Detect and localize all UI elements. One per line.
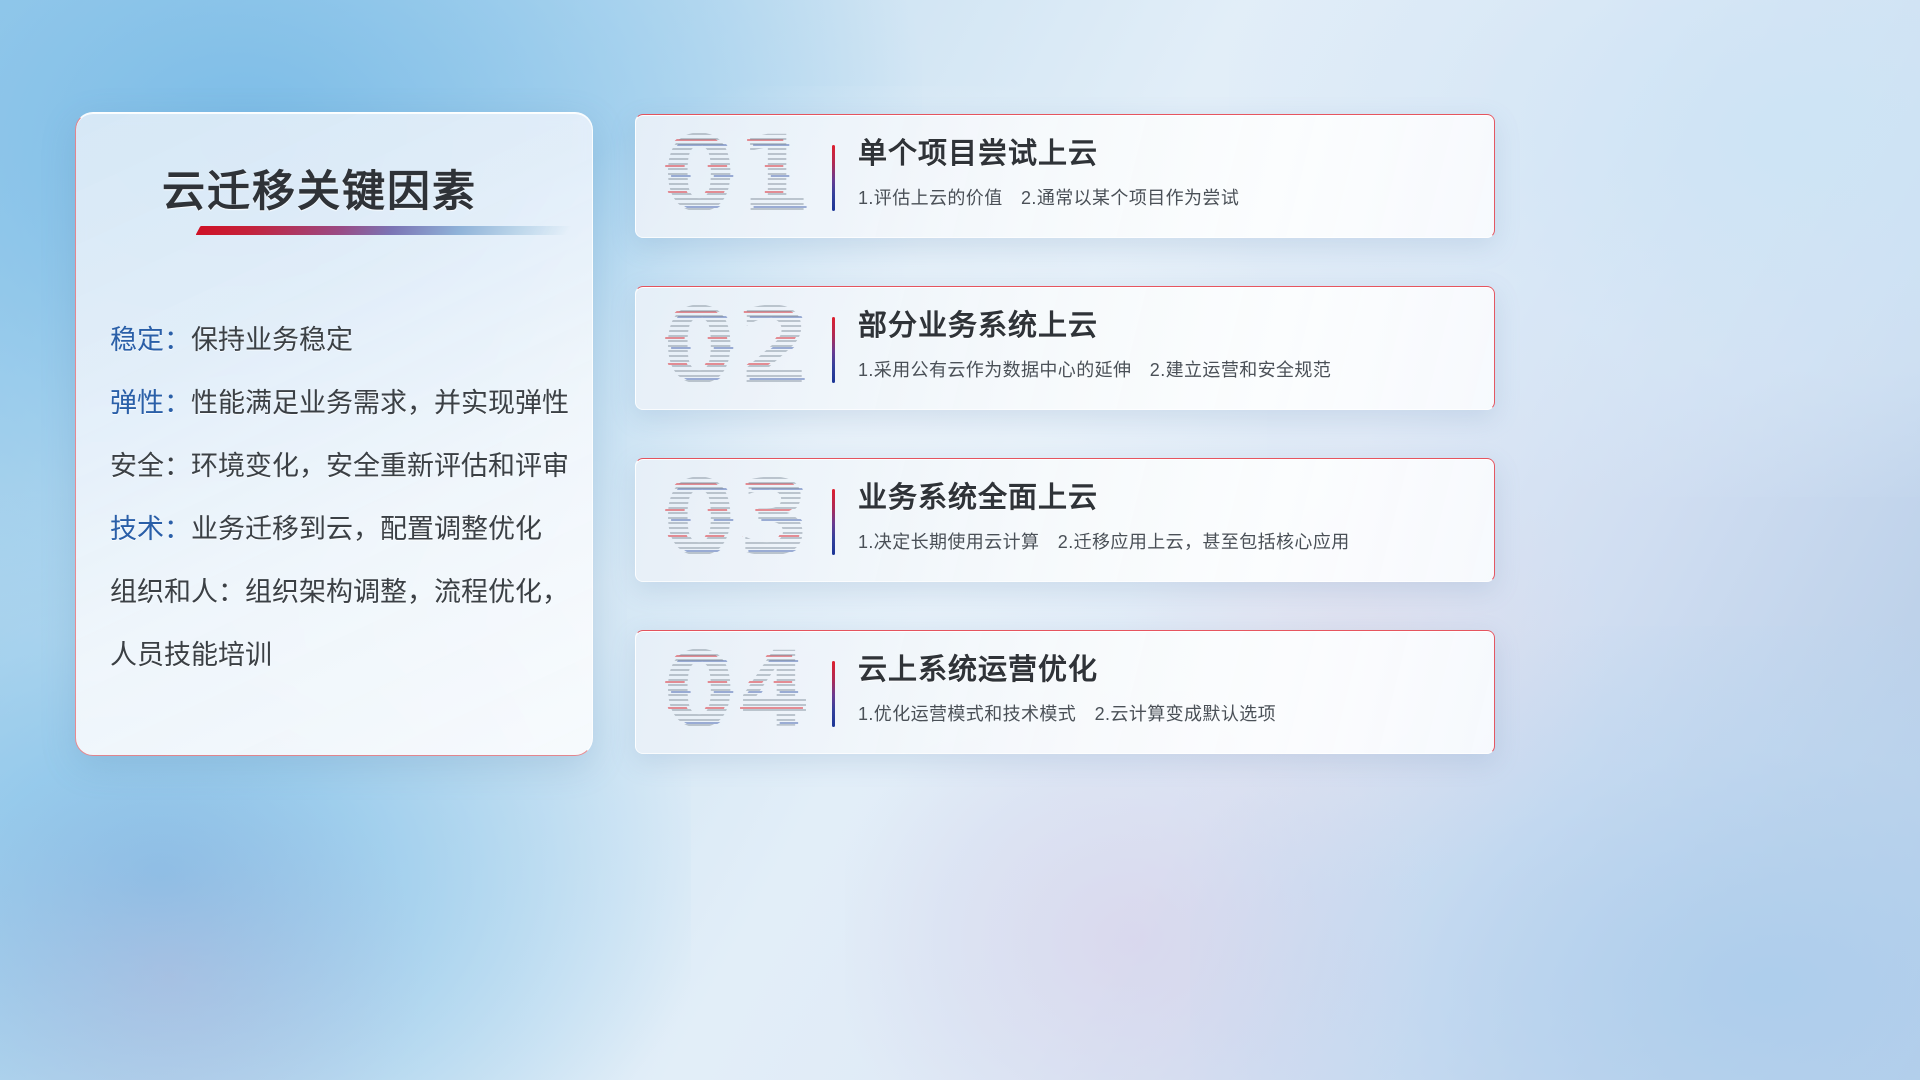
stage-number-01: 01 01 01 — [663, 119, 835, 235]
stage-card-02[interactable]: 02 02 02 部分业务系统上云 1.采用公有云作为数据中心的延伸 2.建立运… — [635, 286, 1495, 410]
page-title: 云迁移关键因素 — [162, 157, 477, 219]
list-item-label: 技术： — [110, 514, 191, 544]
list-item-label: 安全： — [110, 451, 191, 481]
list-item: 弹性：性能满足业务需求，并实现弹性 — [110, 372, 572, 435]
stage-title: 业务系统全面上云 — [858, 477, 1474, 519]
key-factors-panel: 云迁移关键因素 稳定：保持业务稳定 弹性：性能满足业务需求，并实现弹性 安全：环… — [75, 112, 593, 756]
slide-stage: 云迁移关键因素 稳定：保持业务稳定 弹性：性能满足业务需求，并实现弹性 安全：环… — [0, 0, 1920, 1080]
stage-title: 部分业务系统上云 — [858, 305, 1474, 347]
list-item: 稳定：保持业务稳定 — [110, 309, 572, 372]
stage-card-03[interactable]: 03 03 03 业务系统全面上云 1.决定长期使用云计算 2.迁移应用上云，甚… — [635, 458, 1495, 582]
list-item-text: 人员技能培训 — [110, 640, 272, 670]
stage-divider-bar — [832, 661, 835, 727]
list-item-label: 稳定： — [110, 325, 191, 355]
stage-number-04: 04 04 04 — [663, 635, 835, 751]
title-underline-accent — [196, 226, 573, 235]
list-item-text: 保持业务稳定 — [191, 325, 353, 355]
list-item: 人员技能培训 — [110, 624, 572, 687]
stage-divider-bar — [832, 145, 835, 211]
stage-card-04[interactable]: 04 04 04 云上系统运营优化 1.优化运营模式和技术模式 2.云计算变成默… — [635, 630, 1495, 754]
stage-card-body: 单个项目尝试上云 1.评估上云的价值 2.通常以某个项目作为尝试 — [858, 133, 1474, 210]
stage-number-glyph: 02 — [663, 291, 814, 407]
stage-number-glyph: 01 — [663, 119, 814, 235]
list-item: 组织和人：组织架构调整，流程优化， — [110, 561, 572, 624]
stage-subtitle: 1.优化运营模式和技术模式 2.云计算变成默认选项 — [858, 700, 1474, 726]
stage-divider-bar — [832, 489, 835, 555]
list-item: 安全：环境变化，安全重新评估和评审 — [110, 435, 572, 498]
stage-card-body: 业务系统全面上云 1.决定长期使用云计算 2.迁移应用上云，甚至包括核心应用 — [858, 477, 1474, 554]
stage-subtitle: 1.采用公有云作为数据中心的延伸 2.建立运营和安全规范 — [858, 356, 1474, 382]
list-item-text: 业务迁移到云，配置调整优化 — [191, 514, 542, 544]
list-item-text: 环境变化，安全重新评估和评审 — [191, 451, 569, 481]
stage-number-glyph: 04 — [663, 635, 814, 751]
list-item-label: 组织和人： — [110, 577, 245, 607]
list-item-text: 性能满足业务需求，并实现弹性 — [191, 388, 569, 418]
list-item: 技术：业务迁移到云，配置调整优化 — [110, 498, 572, 561]
stage-card-01[interactable]: 01 01 01 单个项目尝试上云 1.评估上云的价值 2.通常以某个项目作为尝… — [635, 114, 1495, 238]
stage-card-body: 云上系统运营优化 1.优化运营模式和技术模式 2.云计算变成默认选项 — [858, 649, 1474, 726]
list-item-text: 组织架构调整，流程优化， — [245, 577, 569, 607]
list-item-label: 弹性： — [110, 388, 191, 418]
key-factors-list: 稳定：保持业务稳定 弹性：性能满足业务需求，并实现弹性 安全：环境变化，安全重新… — [110, 309, 572, 687]
stage-number-02: 02 02 02 — [663, 291, 835, 407]
stage-subtitle: 1.评估上云的价值 2.通常以某个项目作为尝试 — [858, 184, 1474, 210]
stage-card-body: 部分业务系统上云 1.采用公有云作为数据中心的延伸 2.建立运营和安全规范 — [858, 305, 1474, 382]
stage-subtitle: 1.决定长期使用云计算 2.迁移应用上云，甚至包括核心应用 — [858, 528, 1474, 554]
stage-divider-bar — [832, 317, 835, 383]
stage-number-glyph: 03 — [663, 463, 814, 579]
stage-title: 云上系统运营优化 — [858, 649, 1474, 691]
stage-number-03: 03 03 03 — [663, 463, 835, 579]
stage-title: 单个项目尝试上云 — [858, 133, 1474, 175]
